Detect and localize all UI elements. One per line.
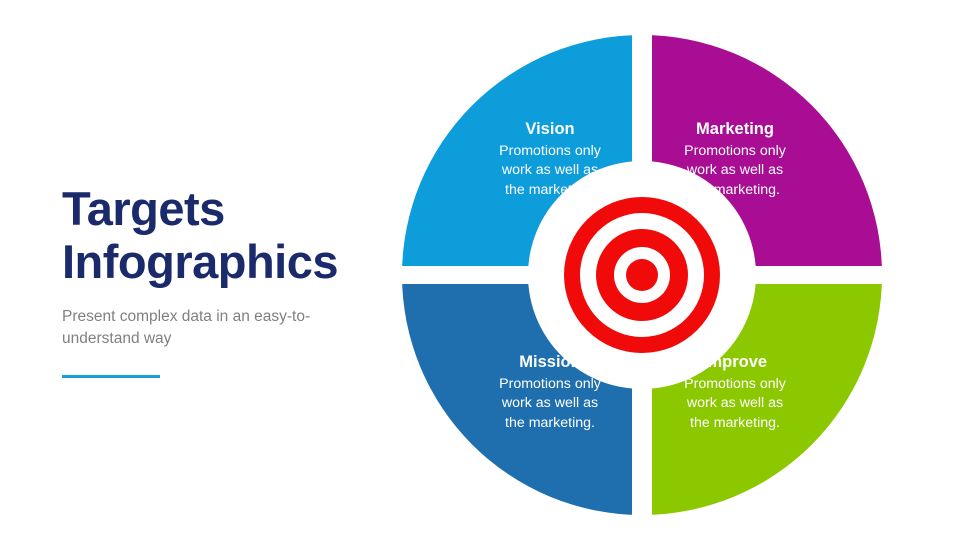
page-title: Targets Infographics	[62, 183, 362, 288]
bullseye-target-icon	[564, 197, 720, 353]
targets-donut-diagram: Vision Promotions only work as well as t…	[400, 35, 885, 515]
page-subtitle: Present complex data in an easy-to-under…	[62, 306, 312, 350]
donut-svg	[400, 35, 885, 515]
title-block: Targets Infographics Present complex dat…	[62, 183, 362, 378]
slide-canvas: Targets Infographics Present complex dat…	[0, 0, 980, 551]
accent-divider	[62, 375, 160, 378]
